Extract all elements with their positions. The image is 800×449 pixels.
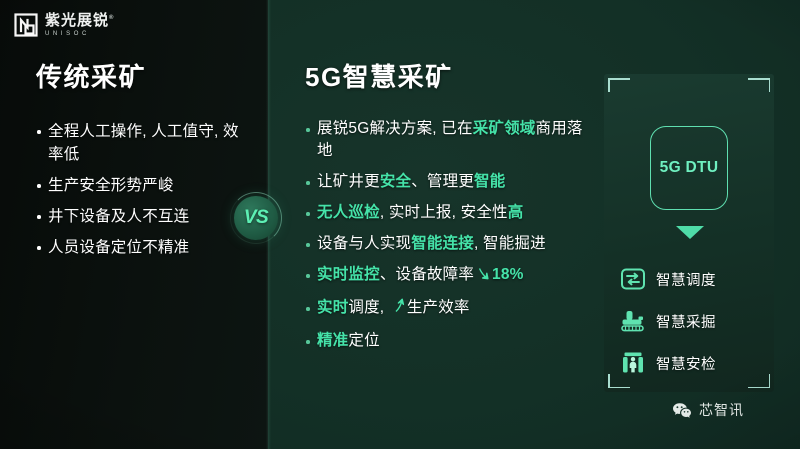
brand-logo: 紫光展锐® UNISOC xyxy=(14,11,114,39)
smart-mining-column: 5G智慧采矿 展锐5G解决方案, 已在采矿领域商用落地让矿井更安全、管理更智能无… xyxy=(305,62,585,361)
left-bullet-list: 全程人工操作, 人工值守, 效率低生产安全形势严峻井下设备及人不互连人员设备定位… xyxy=(36,120,246,259)
bullet-item: 让矿井更安全、管理更智能 xyxy=(305,171,585,193)
bullet-item: 精准定位 xyxy=(305,330,585,352)
feature-item-dispatch: 智慧调度 xyxy=(620,262,770,296)
corner-bracket-top-left-icon xyxy=(608,78,630,92)
bullet-text-highlight: 安全 xyxy=(380,173,411,190)
bullet-item: 展锐5G解决方案, 已在采矿领域商用落地 xyxy=(305,118,585,162)
bullet-text-highlight: 精准 xyxy=(317,332,348,349)
bullet-text-highlight: 实时 xyxy=(317,299,348,316)
bullet-text: 全程人工操作, 人工值守, 效率低 xyxy=(48,123,239,163)
bullet-text-highlight: 18% xyxy=(492,266,524,283)
wechat-icon xyxy=(672,402,692,419)
feature-label-security: 智慧安检 xyxy=(656,353,716,374)
smart-mining-machine-icon xyxy=(620,308,646,334)
bullet-item: 人员设备定位不精准 xyxy=(36,236,246,259)
feature-label-mining: 智慧采掘 xyxy=(656,311,716,332)
feature-list: 智慧调度 智慧采掘 xyxy=(620,262,770,388)
brand-name-en: UNISOC xyxy=(45,30,114,39)
bullet-text-highlight: 高 xyxy=(508,204,524,221)
bullet-text-highlight: 智能 xyxy=(474,173,505,190)
arrow-up-icon xyxy=(390,298,406,321)
corner-bracket-top-right-icon xyxy=(748,78,770,92)
device-card: 5G DTU 智慧调度 xyxy=(604,74,774,392)
bullet-item: 无人巡检, 实时上报, 安全性高 xyxy=(305,202,585,224)
feature-item-security: 智慧安检 xyxy=(620,346,770,380)
bullet-item: 全程人工操作, 人工值守, 效率低 xyxy=(36,120,246,166)
bullet-item: 生产安全形势严峻 xyxy=(36,174,246,197)
bullet-text: 井下设备及人不互连 xyxy=(48,208,189,225)
bullet-text: 人员设备定位不精准 xyxy=(48,239,189,256)
left-column-title: 传统采矿 xyxy=(36,62,246,92)
registered-mark: ® xyxy=(109,15,114,21)
bullet-item: 设备与人实现智能连接, 智能掘进 xyxy=(305,233,585,255)
right-bullet-list: 展锐5G解决方案, 已在采矿领域商用落地让矿井更安全、管理更智能无人巡检, 实时… xyxy=(305,118,585,352)
bullet-text-highlight: 无人巡检 xyxy=(317,204,380,221)
bullet-item: 实时调度, 生产效率 xyxy=(305,297,585,321)
feature-item-mining: 智慧采掘 xyxy=(620,304,770,338)
bullet-text: 生产效率 xyxy=(407,299,470,316)
bullet-text: 让矿井更 xyxy=(317,173,380,190)
security-gate-icon xyxy=(620,350,646,376)
traditional-mining-column: 传统采矿 全程人工操作, 人工值守, 效率低生产安全形势严峻井下设备及人不互连人… xyxy=(36,62,246,267)
bullet-text: , 实时上报, 安全性 xyxy=(380,204,508,221)
brand-name-cn: 紫光展锐® xyxy=(45,11,114,28)
versus-badge: VS xyxy=(234,196,278,240)
feature-label-dispatch: 智慧调度 xyxy=(656,269,716,290)
bullet-text: 、设备故障率 xyxy=(380,266,474,283)
smart-dispatch-icon xyxy=(620,266,646,292)
bullet-text-highlight: 智能连接 xyxy=(411,235,474,252)
bullet-text-highlight: 实时监控 xyxy=(317,266,380,283)
bullet-text: 展锐5G解决方案, 已在 xyxy=(317,120,473,137)
arrow-down-icon xyxy=(475,265,491,288)
watermark: 芯智讯 xyxy=(672,400,744,420)
bullet-text-highlight: 采矿领域 xyxy=(473,120,536,137)
bullet-text: 定位 xyxy=(348,332,379,349)
triangle-down-icon xyxy=(676,226,704,239)
dtu-module: 5G DTU xyxy=(650,126,728,210)
bullet-text: 调度, xyxy=(348,299,388,316)
versus-label: VS xyxy=(244,207,268,229)
watermark-label: 芯智讯 xyxy=(699,400,744,420)
right-column-title: 5G智慧采矿 xyxy=(305,62,585,92)
bullet-text: 生产安全形势严峻 xyxy=(48,177,174,194)
dtu-label: 5G DTU xyxy=(660,159,719,177)
bullet-text: 设备与人实现 xyxy=(317,235,411,252)
bullet-text: , 智能掘进 xyxy=(474,235,546,252)
slide-canvas: 紫光展锐® UNISOC 传统采矿 全程人工操作, 人工值守, 效率低生产安全形… xyxy=(0,0,800,449)
bullet-item: 井下设备及人不互连 xyxy=(36,205,246,228)
bullet-item: 实时监控、设备故障率18% xyxy=(305,264,585,288)
unisoc-bracket-logo-icon xyxy=(14,13,38,37)
bullet-text: 、管理更 xyxy=(411,173,474,190)
